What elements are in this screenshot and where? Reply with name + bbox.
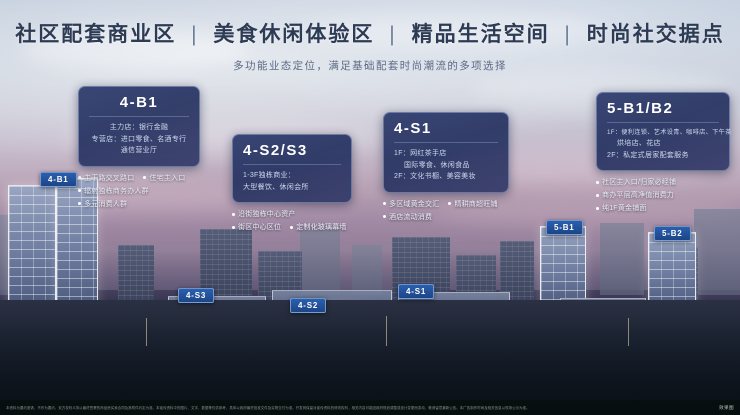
title-part-2: 美食休闲体验区 [213,23,374,46]
info-card-line: 烘培店、花店 [607,138,719,150]
info-card-5b1-b2[interactable]: 5-B1/B2 1F：便利连锁、艺术设青、咖啡店、下午茶 烘培店、花店 2F：私… [596,92,730,213]
bullet-item: 街区中心区位 [232,222,281,232]
info-card-line: 国际零食、休闲食品 [394,160,498,172]
bullet-item: 精耕商超旺铺 [448,199,497,209]
bullet-label: 多元消费人群 [84,199,127,209]
bullet-dot-icon [448,202,451,205]
bullet-item: 住宅主入口 [143,173,185,183]
bullet-dot-icon [596,207,599,210]
hero-tower-4b1-left [8,185,56,312]
ground-plane [0,300,740,415]
bullet-item: 社区主入口/归家必经铺 [596,177,676,187]
title-separator: | [191,23,198,46]
bullet-dot-icon [78,176,81,179]
bullet-item: 定制化玻璃幕墙 [290,222,346,232]
building-tag-5b2[interactable]: 5-B2 [654,226,691,241]
info-card-line: 1F：便利连锁、艺术设青、咖啡店、下午茶 [607,128,719,138]
street-light [146,318,147,346]
distant-building [352,245,382,295]
bullet-dot-icon [78,189,81,192]
building-tag-4b1[interactable]: 4-B1 [40,172,77,187]
info-card-line: 主力店：银行金融 [89,122,189,134]
title-separator: | [564,23,571,46]
info-card-code: 4-S1 [394,120,498,143]
bullet-dot-icon [78,202,81,205]
bullet-label: 多区域黄金交汇 [389,199,439,209]
bullet-label: 住宅主入口 [149,173,185,183]
info-card-body: 4-B1 主力店：银行金融 专营店：进口零食、名酒专行 通信营业厅 [78,86,200,167]
bullet-item: 主干路交叉路口 [78,173,134,183]
info-card-bullets: 主干路交叉路口 住宅主入口 辐射独栋商务办人群 多元消费人群 [78,173,200,209]
info-card-code: 4-S2/S3 [243,142,341,165]
info-card-line: 专营店：进口零食、名酒专行 [89,134,189,146]
info-card-bullets: 多区域黄金交汇 精耕商超旺铺 酒店流动消费 [383,199,509,222]
render-note-label: 效果图 [719,405,734,411]
bullet-label: 商办平层高净值消费力 [602,190,674,200]
info-card-code: 4-B1 [89,94,189,117]
page-title: 社区配套商业区 | 美食休闲体验区 | 精品生活空间 | 时尚社交据点 [0,18,740,48]
info-card-body: 4-S1 1F：网红茶手店 国际零食、休闲食品 2F：文化书橱、美容美妆 [383,112,509,193]
title-part-4: 时尚社交据点 [587,23,725,46]
building-tag-4s3[interactable]: 4-S3 [178,288,214,303]
bullet-item: 商办平层高净值消费力 [596,190,674,200]
footer-bar: 本资料为要约邀请，不作为要约，双方权利义务以最终签署的商品房买卖合同及其附件约定… [0,400,740,415]
building-tag-4s1[interactable]: 4-S1 [398,284,434,299]
bullet-dot-icon [596,181,599,184]
street-light [628,318,629,346]
bullet-label: 精耕商超旺铺 [454,199,497,209]
info-card-body: 4-S2/S3 1-3F独栋商业： 大型餐饮、休闲会所 [232,134,352,203]
bullet-label: 辐射独栋商务办人群 [84,186,149,196]
building-tag-5b1[interactable]: 5-B1 [546,220,583,235]
street-light [386,316,387,346]
building-tag-4s2[interactable]: 4-S2 [290,298,326,313]
bullet-dot-icon [143,176,146,179]
info-card-line: 1F：网红茶手店 [394,148,498,160]
marketing-render-canvas: 社区配套商业区 | 美食休闲体验区 | 精品生活空间 | 时尚社交据点 多功能业… [0,0,740,415]
bullet-item: 酒店流动消费 [383,212,432,222]
info-card-4b1[interactable]: 4-B1 主力店：银行金融 专营店：进口零食、名酒专行 通信营业厅 主干路交叉路… [78,86,200,209]
info-card-bullets: 社区主入口/归家必经铺 商办平层高净值消费力 纯1F黄金铺面 [596,177,730,213]
bullet-item: 多区域黄金交汇 [383,199,439,209]
info-card-line: 2F：私定式居家配套服务 [607,150,719,162]
bullet-dot-icon [383,215,386,218]
bullet-label: 街区中心区位 [238,222,281,232]
title-separator: | [389,23,396,46]
bullet-label: 定制化玻璃幕墙 [296,222,346,232]
info-card-4s2-s3[interactable]: 4-S2/S3 1-3F独栋商业： 大型餐饮、休闲会所 沿街独栋中心资产 街区中… [232,134,352,232]
distant-building [600,223,644,295]
bullet-dot-icon [232,226,235,229]
title-part-3: 精品生活空间 [412,23,550,46]
distant-building [300,229,340,295]
bullet-item: 沿街独栋中心资产 [232,209,296,219]
info-card-body: 5-B1/B2 1F：便利连锁、艺术设青、咖啡店、下午茶 烘培店、花店 2F：私… [596,92,730,171]
legal-disclaimer: 本资料为要约邀请，不作为要约，双方权利义务以最终签署的商品房买卖合同及其附件约定… [6,405,530,410]
bullet-label: 纯1F黄金铺面 [602,203,647,213]
title-part-1: 社区配套商业区 [15,23,176,46]
bullet-dot-icon [232,213,235,216]
info-card-line: 大型餐饮、休闲会所 [243,182,341,194]
info-card-bullets: 沿街独栋中心资产 街区中心区位 定制化玻璃幕墙 [232,209,352,232]
info-card-line: 2F：文化书橱、美容美妆 [394,171,498,183]
page-subtitle: 多功能业态定位，满足基础配套时尚潮流的多项选择 [0,58,740,73]
bullet-label: 社区主入口/归家必经铺 [602,177,676,187]
bullet-label: 主干路交叉路口 [84,173,134,183]
info-card-code: 5-B1/B2 [607,100,719,123]
mid-building [118,245,154,307]
header-block: 社区配套商业区 | 美食休闲体验区 | 精品生活空间 | 时尚社交据点 多功能业… [0,18,740,73]
info-card-line: 通信营业厅 [89,145,189,157]
bullet-item: 辐射独栋商务办人群 [78,186,149,196]
info-card-4s1[interactable]: 4-S1 1F：网红茶手店 国际零食、休闲食品 2F：文化书橱、美容美妆 多区域… [383,112,509,222]
bullet-label: 沿街独栋中心资产 [238,209,296,219]
info-card-line: 1-3F独栋商业： [243,170,341,182]
bullet-item: 纯1F黄金铺面 [596,203,647,213]
bullet-dot-icon [383,202,386,205]
bullet-item: 多元消费人群 [78,199,127,209]
bullet-dot-icon [290,226,293,229]
bullet-label: 酒店流动消费 [389,212,432,222]
distant-building [694,209,740,295]
bullet-dot-icon [596,194,599,197]
